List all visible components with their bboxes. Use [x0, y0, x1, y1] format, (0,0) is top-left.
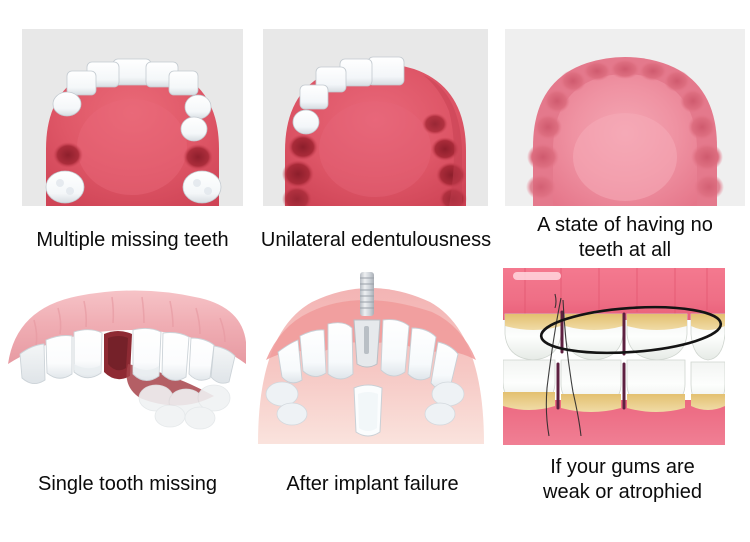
caption-no-teeth-at-all: A state of having no teeth at all [505, 213, 745, 263]
caption-after-implant-failure: After implant failure [250, 472, 495, 497]
arch-single-gap-illustration [0, 268, 250, 448]
figure-no-teeth-at-all [505, 29, 745, 206]
image-grid: Multiple missing teeth [0, 0, 750, 542]
caption-multiple-missing-teeth: Multiple missing teeth [15, 228, 250, 253]
figure-weak-or-atrophied-gums [503, 268, 725, 445]
implant-failure-illustration [252, 268, 490, 448]
figure-after-implant-failure [252, 268, 490, 448]
figure-unilateral-edentulousness [263, 29, 488, 206]
upper-arch-edentulous-illustration [505, 29, 745, 206]
figure-multiple-missing-teeth [22, 29, 243, 206]
caption-single-tooth-missing: Single tooth missing [5, 472, 250, 497]
upper-arch-multiple-missing-illustration [22, 29, 243, 206]
upper-arch-unilateral-illustration [263, 29, 488, 206]
receding-gums-illustration [503, 268, 725, 445]
caption-weak-or-atrophied-gums: If your gums are weak or atrophied [500, 455, 745, 505]
figure-single-tooth-missing [0, 268, 250, 448]
caption-unilateral-edentulousness: Unilateral edentulousness [252, 228, 500, 253]
